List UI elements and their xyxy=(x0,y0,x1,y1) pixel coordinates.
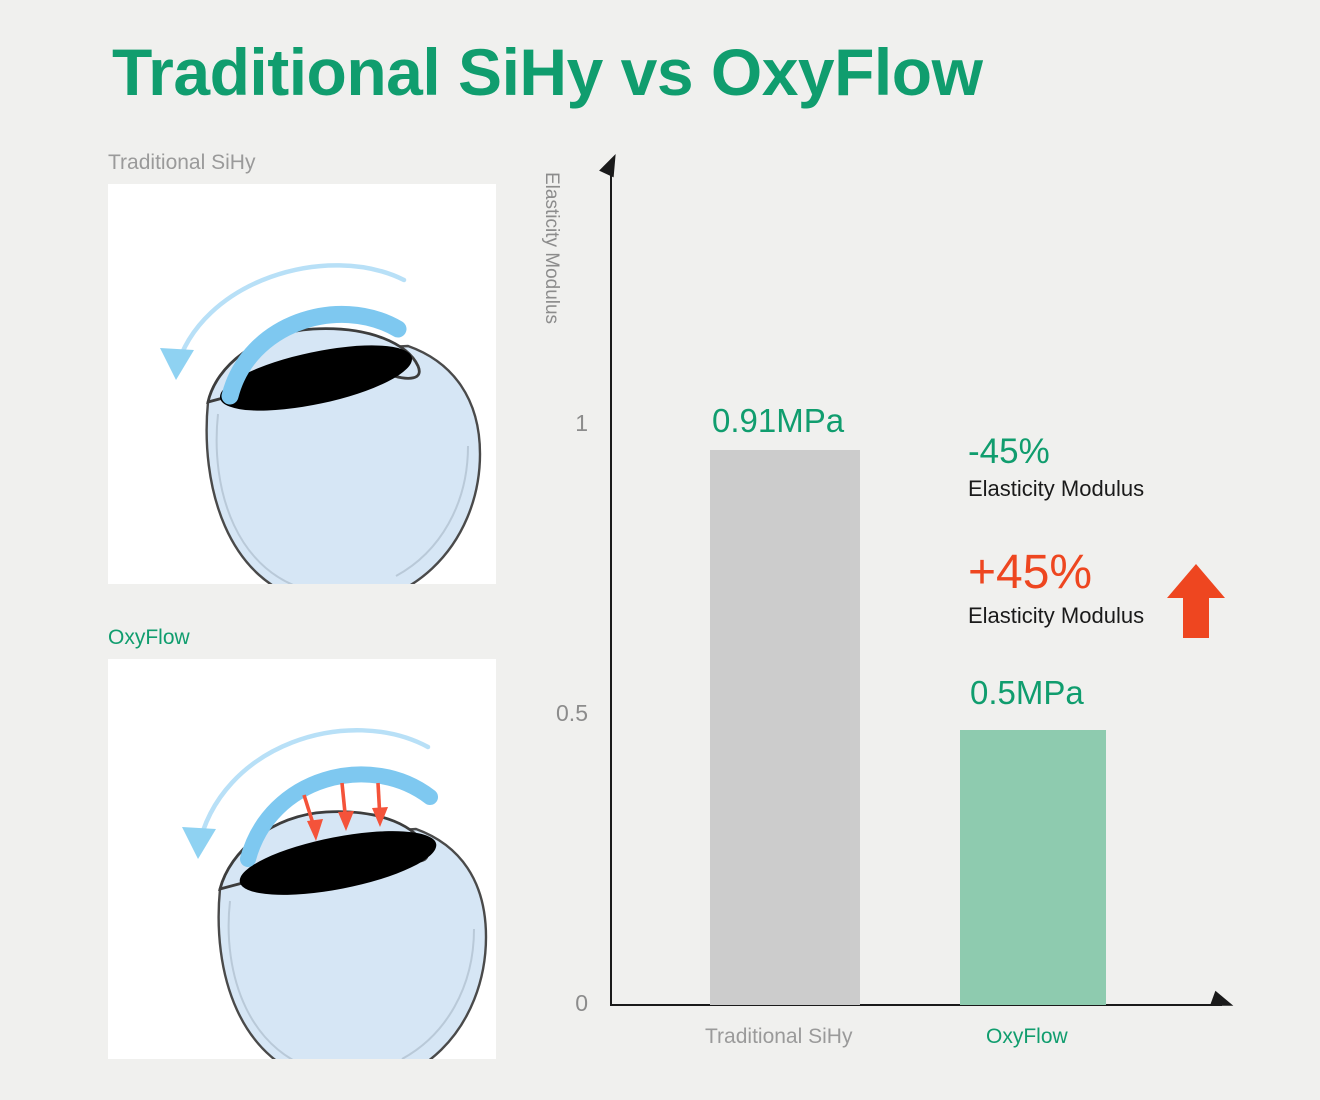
illustration-traditional-sihy: Traditional SiHy xyxy=(108,150,496,584)
x-tick-label-oxyflow: OxyFlow xyxy=(986,1025,1068,1049)
callout-percent-increase: +45% xyxy=(968,545,1144,601)
callout-metric-decrease: Elasticity Modulus xyxy=(968,474,1144,504)
y-tick-label-1: 1 xyxy=(548,410,588,437)
x-axis-arrow-icon xyxy=(1210,991,1236,1014)
x-axis-line xyxy=(610,1004,1222,1006)
y-tick-label-0.5: 0.5 xyxy=(548,700,588,727)
oxygen-flow-arrowhead xyxy=(160,348,194,380)
illustration-frame-oxyflow xyxy=(108,659,496,1059)
bar-traditional-sihy xyxy=(710,450,860,1005)
y-axis-arrow-icon xyxy=(599,151,623,178)
y-axis-line xyxy=(610,168,612,1006)
x-tick-label-traditional-sihy: Traditional SiHy xyxy=(705,1025,852,1049)
callout-percent-decrease: -45% xyxy=(968,430,1144,474)
bar-value-traditional-sihy: 0.91MPa xyxy=(712,402,844,440)
illustration-frame-traditional xyxy=(108,184,496,584)
illustration-caption-traditional: Traditional SiHy xyxy=(108,150,496,176)
oxygen-flow-arrowhead xyxy=(182,827,216,859)
callout-elasticity-decrease: -45% Elasticity Modulus xyxy=(968,430,1144,504)
y-axis-tick-group: 1 0.5 0 xyxy=(540,0,588,1100)
bar-value-oxyflow: 0.5MPa xyxy=(970,674,1084,712)
eye-diagram-oxyflow xyxy=(108,659,496,1059)
callout-metric-increase: Elasticity Modulus xyxy=(968,601,1144,631)
illustration-caption-oxyflow: OxyFlow xyxy=(108,625,496,651)
illustration-oxyflow: OxyFlow xyxy=(108,625,496,1059)
y-tick-label-0: 0 xyxy=(548,990,588,1017)
bar-oxyflow xyxy=(960,730,1106,1005)
eye-diagram-traditional xyxy=(108,184,496,584)
callout-elasticity-increase: +45% Elasticity Modulus xyxy=(968,545,1144,631)
arrow-up-icon xyxy=(1166,562,1226,640)
